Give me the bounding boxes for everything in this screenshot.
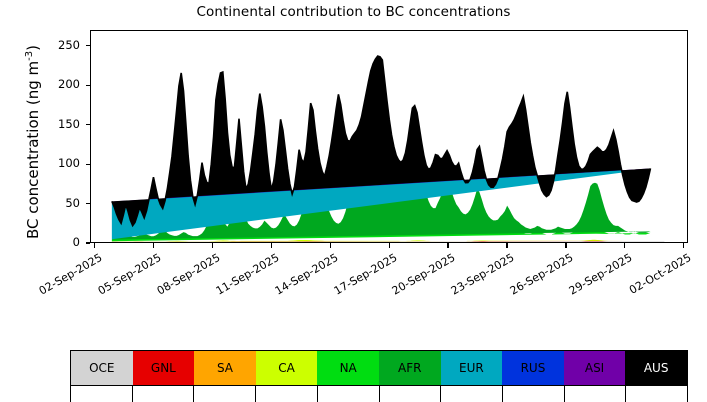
x-tick-mark: [447, 243, 448, 248]
plot-area: [90, 30, 688, 243]
legend-second-row-cell-gnl: [133, 386, 195, 402]
legend-second-row-cell-ca: [256, 386, 318, 402]
legend-item-gnl[interactable]: GNL: [133, 351, 195, 385]
y-tick-label: 250: [40, 40, 80, 52]
x-tick-mark: [94, 243, 95, 248]
legend-second-row-cell-sa: [194, 386, 256, 402]
x-tick-mark: [330, 243, 331, 248]
legend-second-row-cell-rus: [503, 386, 565, 402]
y-tick-label: 100: [40, 158, 80, 170]
y-tick-mark: [86, 242, 90, 243]
legend-item-oce[interactable]: OCE: [71, 351, 133, 385]
x-tick-mark: [683, 243, 684, 248]
page-title: Continental contribution to BC concentra…: [0, 4, 707, 20]
x-tick-mark: [153, 243, 154, 248]
legend-item-na[interactable]: NA: [317, 351, 379, 385]
legend-item-aus[interactable]: AUS: [625, 351, 687, 385]
legend-second-row-cell-afr: [380, 386, 442, 402]
legend-item-asi[interactable]: ASI: [564, 351, 626, 385]
legend: OCEGNLSACANAAFREURRUSASIAUS: [70, 350, 688, 386]
y-tick-label: 0: [40, 237, 80, 249]
legend-second-row-cell-asi: [565, 386, 627, 402]
y-axis-label-exponent: -3: [24, 51, 35, 61]
x-tick-mark: [624, 243, 625, 248]
legend-item-afr[interactable]: AFR: [379, 351, 441, 385]
y-tick-mark: [86, 164, 90, 165]
legend-second-row-cell-eur: [441, 386, 503, 402]
legend-item-eur[interactable]: EUR: [441, 351, 503, 385]
y-tick-label: 200: [40, 79, 80, 91]
legend-second-row: [70, 386, 688, 402]
legend-item-ca[interactable]: CA: [256, 351, 318, 385]
chart-page: Continental contribution to BC concentra…: [0, 0, 707, 402]
x-tick-mark: [506, 243, 507, 248]
y-tick-label: 50: [40, 198, 80, 210]
y-axis-label: BC concentration (ng m-3): [24, 17, 42, 267]
y-tick-mark: [86, 85, 90, 86]
y-tick-mark: [86, 203, 90, 204]
legend-item-rus[interactable]: RUS: [502, 351, 564, 385]
legend-second-row-cell-na: [318, 386, 380, 402]
stacked-area-svg: [91, 31, 687, 242]
x-tick-mark: [212, 243, 213, 248]
legend-second-row-cell-aus: [626, 386, 687, 402]
y-tick-mark: [86, 124, 90, 125]
y-tick-mark: [86, 45, 90, 46]
x-tick-mark: [565, 243, 566, 248]
x-tick-mark: [271, 243, 272, 248]
legend-item-sa[interactable]: SA: [194, 351, 256, 385]
x-tick-mark: [389, 243, 390, 248]
y-tick-label: 150: [40, 119, 80, 131]
legend-second-row-cell-oce: [71, 386, 133, 402]
